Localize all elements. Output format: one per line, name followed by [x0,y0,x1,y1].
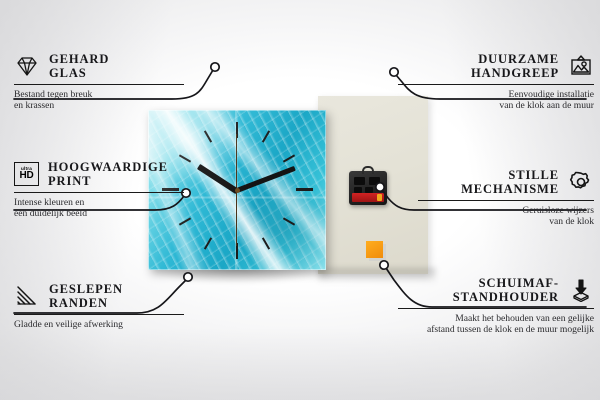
feature-hoogwaardige-print: ultra HD HOOGWAARDIGE PRINT Intense kleu… [14,160,184,220]
feature-title: GEHARD GLAS [49,52,109,80]
divider [14,192,184,193]
feature-gehard-glas: GEHARD GLAS Bestand tegen breuk en krass… [14,52,184,112]
divider [14,314,184,315]
picture-frame-icon [568,54,594,78]
feature-title: GESLEPEN RANDEN [49,282,123,310]
connector-dot-schuimafstandhouder [380,261,388,269]
feature-stille-mechanisme: STILLE MECHANISME Geruisloze wijzers van… [418,168,594,228]
ultra-hd-icon: ultra HD [14,162,39,186]
divider [14,84,184,85]
feature-title: STILLE MECHANISME [461,168,559,196]
feature-desc: Geruisloze wijzers van de klok [418,205,594,228]
feature-desc: Gladde en veilige afwerking [14,319,184,330]
feature-desc: Intense kleuren en een duidelijk beeld [14,197,184,220]
gear-icon [568,170,594,194]
divider [398,84,594,85]
feature-title: HOOGWAARDIGE PRINT [48,160,168,188]
connector-dot-geslepen-randen [184,273,192,281]
feature-duurzame-handgreep: DUURZAME HANDGREEP Eenvoudige installati… [398,52,594,112]
feature-geslepen-randen: GESLEPEN RANDEN Gladde en veilige afwerk… [14,282,184,330]
divider [398,308,594,309]
down-arrow-pad-icon [568,278,594,302]
divider [418,200,594,201]
diamond-icon [14,54,40,78]
feature-schuimafstandhouder: SCHUIMAF- STANDHOUDER Maakt het behouden… [398,276,594,336]
feature-title: SCHUIMAF- STANDHOUDER [453,276,559,304]
feature-desc: Eenvoudige installatie van de klok aan d… [398,89,594,112]
connector-dot-stille-mechanisme [376,183,384,191]
feature-desc: Maakt het behouden van een gelijke afsta… [398,313,594,336]
feature-title: DUURZAME HANDGREEP [471,52,559,80]
connector-dot-duurzame-handgreep [390,68,398,76]
connector-dot-gehard-glas [211,63,219,71]
bevelled-edges-icon [14,284,40,308]
infographic-canvas: GEHARD GLAS Bestand tegen breuk en krass… [0,0,600,400]
ultra-hd-icon-bottom: HD [19,171,33,181]
feature-desc: Bestand tegen breuk en krassen [14,89,184,112]
